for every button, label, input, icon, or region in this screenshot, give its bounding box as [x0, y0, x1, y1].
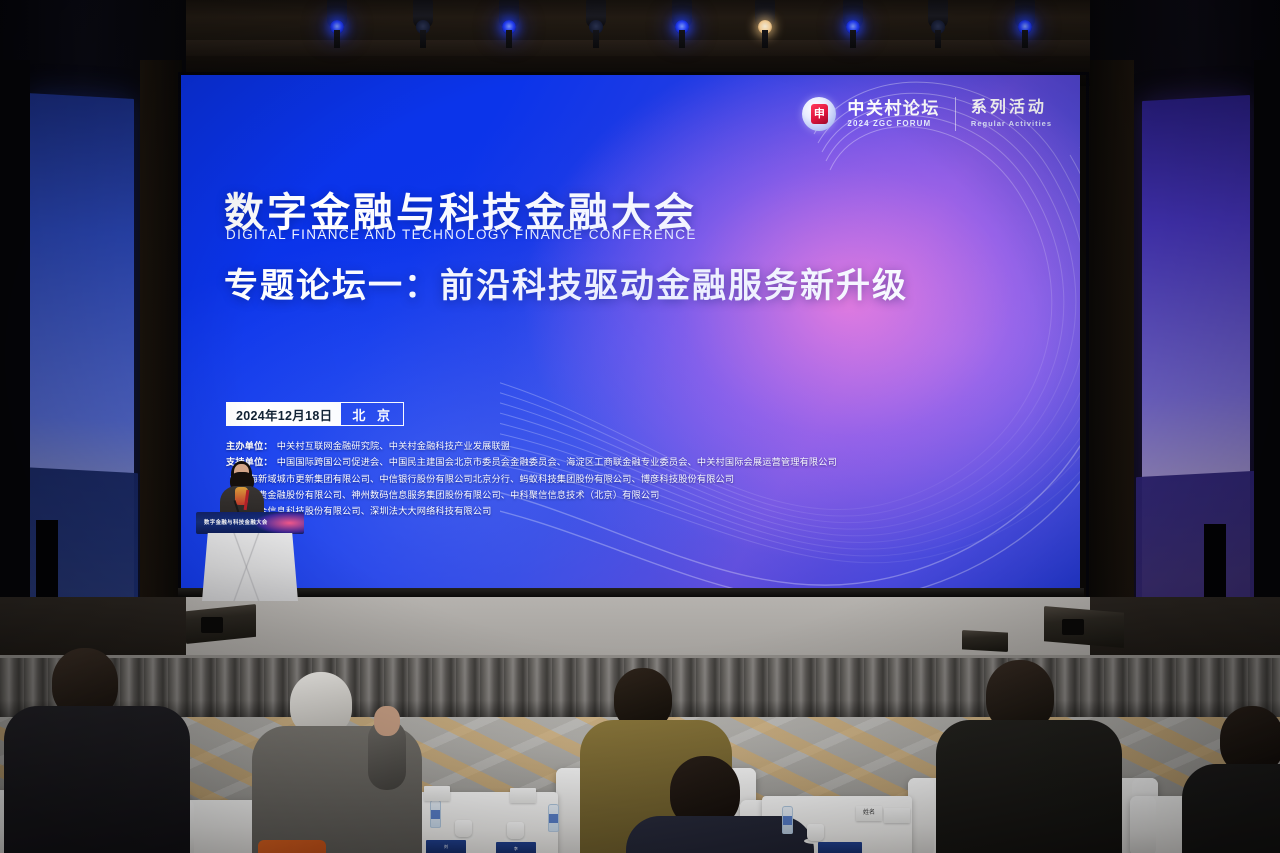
tent-card-text: 姓名 — [856, 806, 882, 821]
organizer-line: 北京海新域城市更新集团有限公司、中信银行股份有限公司北京分行、蚂蚁科技集团股份有… — [226, 471, 1036, 487]
speaker-grille-icon — [1062, 619, 1084, 635]
bottle-label — [431, 810, 440, 819]
person-hand — [374, 706, 400, 736]
coffee-mug — [807, 824, 824, 841]
event-date: 2024年12月18日 — [227, 403, 341, 425]
conference-stage-photo: 申 中关村论坛 2024 ZGC FORUM 系列活动 Regular Acti… — [0, 0, 1280, 853]
organizer-text: 北京海新域城市更新集团有限公司、中信银行股份有限公司北京分行、蚂蚁科技集团股份有… — [230, 474, 734, 484]
organizer-line: 主办单位：中关村互联网金融研究院、中关村金融科技产业发展联盟 — [226, 438, 1036, 454]
stage-monitor-speaker — [962, 630, 1008, 652]
water-bottle — [548, 804, 559, 832]
bottle-label — [549, 814, 558, 823]
water-bottle — [430, 800, 441, 828]
organizer-text: 马上消费金融股份有限公司、神州数码信息服务集团股份有限公司、中科聚信信息技术（北… — [230, 490, 660, 500]
name-card-text: 刘 — [426, 840, 466, 853]
tent-card — [884, 808, 910, 823]
organizer-list: 主办单位：中关村互联网金融研究院、中关村金融科技产业发展联盟 支持单位：中国国际… — [226, 438, 1036, 519]
led-screen: 申 中关村论坛 2024 ZGC FORUM 系列活动 Regular Acti… — [181, 75, 1080, 591]
zgc-name-en: 2024 ZGC FORUM — [847, 119, 940, 128]
stage-light-icon — [669, 0, 695, 42]
organizer-text: 中国国际跨国公司促进会、中国民主建国会北京市委员会金融委员会、海淀区工商联金融专… — [277, 457, 837, 467]
name-card: 李 — [496, 842, 536, 853]
podium-banner: 数字金融与科技金融大会 — [196, 512, 304, 534]
bottle-label — [783, 816, 792, 825]
logo-divider — [955, 97, 956, 131]
coffee-mug — [455, 820, 472, 837]
series-name-en: Regular Activities — [971, 119, 1052, 128]
screen-bottom-edge — [178, 588, 1084, 597]
date-location-badge: 2024年12月18日 北 京 — [226, 402, 404, 426]
stage-light-icon — [496, 0, 522, 42]
organizer-text: 中关村互联网金融研究院、中关村金融科技产业发展联盟 — [277, 441, 510, 451]
organizer-line: 支持单位：中国国际跨国公司促进会、中国民主建国会北京市委员会金融委员会、海淀区工… — [226, 454, 1036, 470]
organizer-line: 马上消费金融股份有限公司、神州数码信息服务集团股份有限公司、中科聚信信息技术（北… — [226, 487, 1036, 503]
sofa-arm — [1130, 796, 1156, 853]
name-card-text: 李 — [496, 842, 536, 853]
stage-light-icon — [840, 0, 866, 42]
forum-logo: 申 中关村论坛 2024 ZGC FORUM 系列活动 Regular Acti… — [802, 97, 1052, 131]
stage-light-icon — [925, 0, 951, 42]
stage-monitor-speaker — [1044, 606, 1124, 648]
podium-body — [202, 533, 298, 601]
water-bottle — [782, 806, 793, 834]
tent-card: 姓名 — [856, 806, 882, 821]
stage-light-icon — [1012, 0, 1038, 42]
stage-light-icon — [324, 0, 350, 42]
tent-card — [424, 786, 450, 801]
zgc-wordmark: 中关村论坛 2024 ZGC FORUM — [847, 100, 940, 129]
person-scarf — [258, 840, 326, 853]
name-card: 刘 — [426, 840, 466, 853]
person-body — [936, 720, 1122, 853]
stage-light-icon — [410, 0, 436, 42]
organizer-label: 主办单位： — [226, 441, 273, 451]
zgc-emblem-icon: 申 — [802, 97, 836, 131]
sofa-arm — [556, 768, 582, 853]
organizer-line: 上海合合信息科技股份有限公司、深圳法大大网络科技有限公司 — [226, 503, 1036, 519]
coffee-mug — [507, 822, 524, 839]
zgc-emblem-glyph: 申 — [811, 104, 828, 124]
speaker-person — [214, 462, 270, 518]
stage-light-icon — [752, 0, 778, 42]
person-body — [1182, 764, 1280, 853]
name-card — [818, 842, 862, 853]
forum-subtitle-cn: 专题论坛一：前沿科技驱动金融服务新升级 — [224, 258, 908, 307]
podium: 数字金融与科技金融大会 — [196, 512, 304, 602]
conference-title-en: DIGITAL FINANCE AND TECHNOLOGY FINANCE C… — [226, 227, 697, 242]
zgc-name-cn: 中关村论坛 — [847, 100, 940, 118]
person-body — [4, 706, 190, 853]
tent-card — [510, 788, 536, 803]
podium-banner-text: 数字金融与科技金融大会 — [204, 518, 268, 526]
stage-light-icon — [583, 0, 609, 42]
series-name-cn: 系列活动 — [971, 100, 1052, 117]
event-city: 北 京 — [341, 403, 403, 425]
series-wordmark: 系列活动 Regular Activities — [971, 100, 1052, 129]
speaker-grille-icon — [201, 617, 223, 633]
